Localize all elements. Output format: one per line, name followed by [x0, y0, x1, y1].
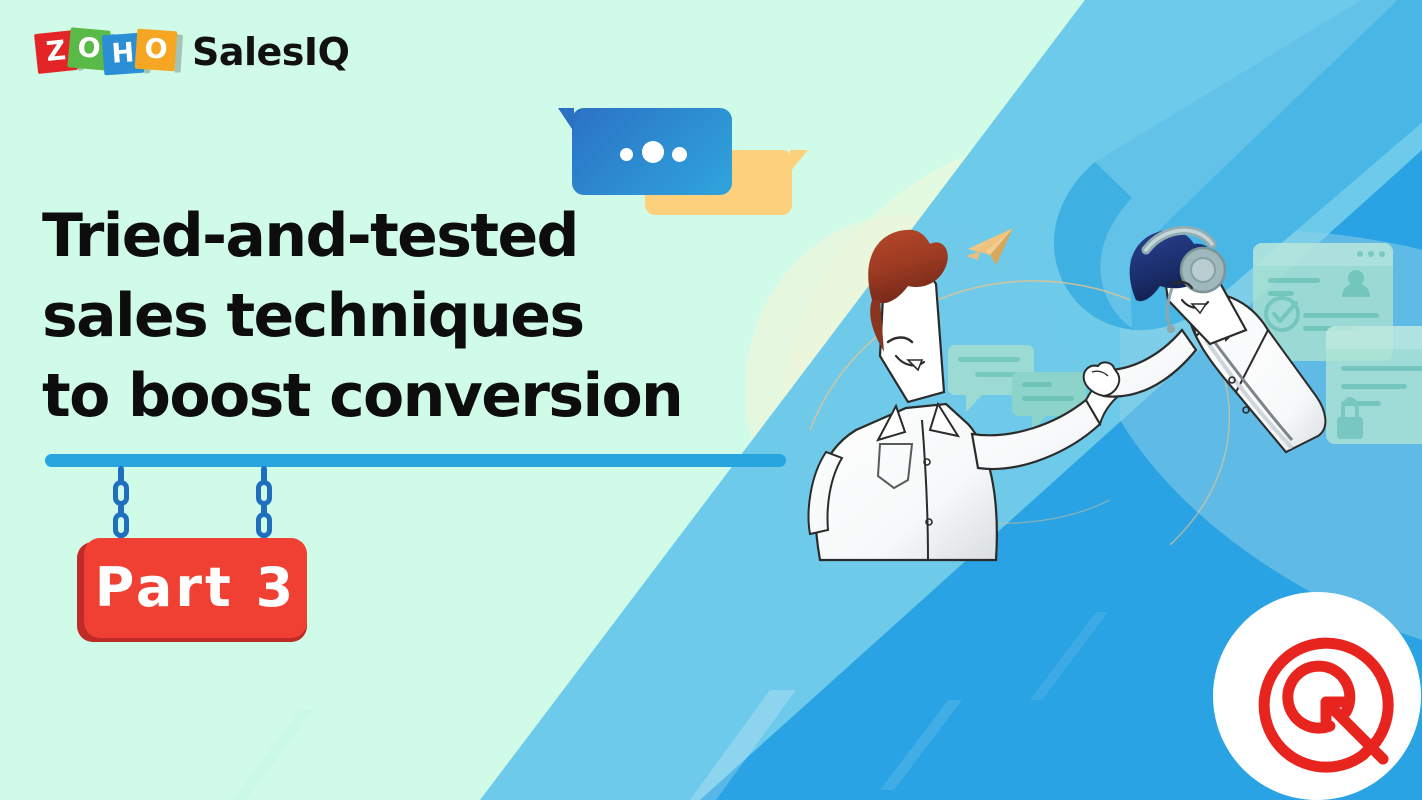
headline-underline-bar — [45, 454, 786, 467]
part-badge-face: Part 3 — [84, 538, 307, 638]
part-badge: Part 3 — [77, 538, 307, 642]
part-badge-label: Part 3 — [95, 561, 296, 615]
chain-link — [256, 512, 272, 538]
salesiq-badge-logo[interactable] — [1213, 592, 1421, 800]
chain-link — [113, 480, 129, 506]
headline-line-3: to boost conversion — [42, 356, 722, 436]
typing-dot — [672, 147, 687, 162]
badge-chain-left — [110, 466, 132, 546]
typing-dot — [642, 141, 664, 163]
badge-chain-right — [253, 466, 275, 546]
chat-bubble-blue-icon — [572, 108, 732, 195]
salesiq-target-icon — [1213, 592, 1421, 800]
lock-card-icon — [1326, 326, 1422, 444]
salesiq-wordmark: SalesIQ — [192, 30, 349, 74]
zoho-salesiq-logo[interactable]: Z O H O SalesIQ — [36, 24, 349, 80]
headline-line-2: sales techniques — [42, 276, 722, 356]
typing-dot — [620, 148, 633, 161]
zoho-logo-icon: Z O H O — [36, 26, 178, 78]
chain-link — [113, 512, 129, 538]
chat-bubble-illustration — [572, 108, 792, 230]
chain-link — [256, 480, 272, 506]
logo-block-o2: O — [135, 29, 178, 72]
page-title: Tried-and-tested sales techniques to boo… — [42, 196, 722, 436]
banner-root: Z O H O SalesIQ Tried-and-tested sales t… — [0, 0, 1422, 800]
